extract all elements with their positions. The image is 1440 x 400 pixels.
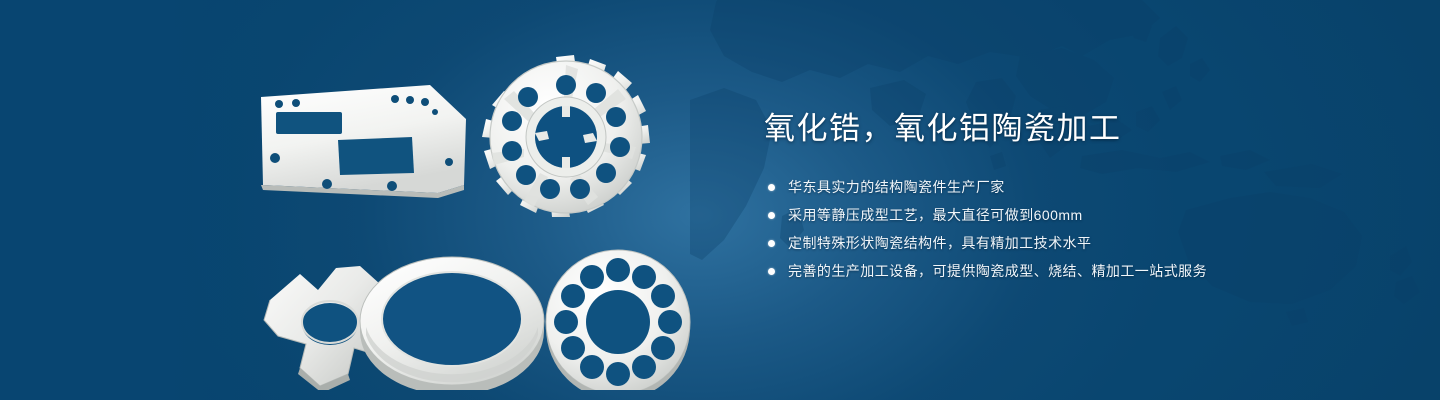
hero-banner: 氧化锆，氧化铝陶瓷加工 华东具实力的结构陶瓷件生产厂家 采用等静压成型工艺，最大… bbox=[0, 0, 1440, 400]
list-item: 华东具实力的结构陶瓷件生产厂家 bbox=[768, 179, 1384, 196]
list-item: 完善的生产加工设备，可提供陶瓷成型、烧结、精加工一站式服务 bbox=[768, 263, 1384, 280]
feature-text: 完善的生产加工设备，可提供陶瓷成型、烧结、精加工一站式服务 bbox=[788, 263, 1207, 280]
feature-text: 定制特殊形状陶瓷结构件，具有精加工技术水平 bbox=[788, 235, 1091, 252]
feature-text: 采用等静压成型工艺，最大直径可做到600mm bbox=[788, 207, 1083, 224]
ceramic-ring-part bbox=[360, 257, 544, 390]
ceramic-impeller-part bbox=[482, 55, 650, 217]
copy-block: 氧化锆，氧化铝陶瓷加工 华东具实力的结构陶瓷件生产厂家 采用等静压成型工艺，最大… bbox=[764, 110, 1384, 280]
bullet-dot-icon bbox=[768, 268, 775, 275]
bullet-dot-icon bbox=[768, 240, 775, 247]
bullet-dot-icon bbox=[768, 184, 775, 191]
bullet-dot-icon bbox=[768, 212, 775, 219]
list-item: 定制特殊形状陶瓷结构件，具有精加工技术水平 bbox=[768, 235, 1384, 252]
ceramic-plate-part bbox=[261, 85, 466, 198]
ceramic-perforated-disc-part bbox=[546, 250, 690, 390]
banner-headline: 氧化锆，氧化铝陶瓷加工 bbox=[764, 110, 1384, 149]
list-item: 采用等静压成型工艺，最大直径可做到600mm bbox=[768, 207, 1384, 224]
feature-text: 华东具实力的结构陶瓷件生产厂家 bbox=[788, 179, 1005, 196]
product-photo-cluster bbox=[230, 45, 720, 390]
feature-list: 华东具实力的结构陶瓷件生产厂家 采用等静压成型工艺，最大直径可做到600mm 定… bbox=[768, 179, 1384, 280]
